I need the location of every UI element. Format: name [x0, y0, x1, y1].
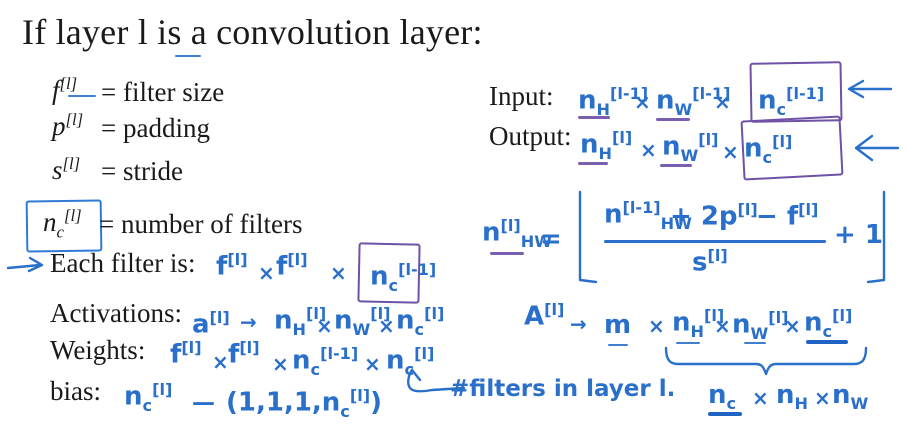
- weights-times-1: ×: [272, 354, 289, 374]
- filter-size-symbol: f[l]: [52, 76, 77, 104]
- each-filter-f1-sup: [l]: [227, 250, 247, 269]
- activations-term-1-base: n: [334, 306, 353, 336]
- formula-denom-base: s: [692, 248, 707, 278]
- floor-left-bracket-icon: [572, 192, 598, 286]
- input-term-1-underline: [656, 118, 690, 121]
- padding-base: p: [52, 111, 66, 141]
- batch-term-0-sub: H: [691, 322, 704, 341]
- input-times-1: ×: [714, 92, 731, 112]
- output-term-2: nc[l]: [744, 134, 792, 166]
- input-term-0-underline: [578, 116, 610, 119]
- weights-f1: f[l]: [170, 340, 202, 368]
- filter-size-equals: =: [101, 79, 116, 106]
- each-filter-nc-sub: c: [389, 276, 399, 295]
- bias-tuple-open: (1,1,1,n: [226, 388, 340, 418]
- formula-lhs-base: n: [482, 218, 501, 248]
- formula-denom-sup: [l]: [707, 246, 727, 265]
- formula-denominator: s[l]: [692, 248, 728, 276]
- weights-f1-sup: [l]: [181, 338, 201, 357]
- each-filter-nc: nc[l-1]: [370, 262, 436, 294]
- weights-ncprev: nc[l-1]: [292, 346, 358, 378]
- activations-term-2-base: n: [396, 306, 415, 336]
- brace-label-term-2: nW: [832, 382, 868, 412]
- brace-term-0-base: n: [708, 380, 727, 410]
- bias-lhs-base: n: [124, 382, 143, 412]
- padding-text: padding: [123, 115, 210, 142]
- input-term-0-base: n: [578, 86, 597, 116]
- num-filters-subscript: c: [57, 222, 64, 241]
- output-term-2-sub: c: [763, 148, 773, 167]
- brace-times-1: ×: [814, 388, 831, 408]
- batch-term-2-base: n: [804, 308, 823, 338]
- input-times-0: ×: [634, 92, 651, 112]
- num-filters-text: number of filters: [121, 211, 302, 238]
- weights-times-2: ×: [364, 354, 381, 374]
- output-times-0: ×: [640, 140, 657, 160]
- activations-a: a[l]: [192, 310, 230, 338]
- batch-term-0-base: n: [672, 308, 691, 338]
- output-term-2-base: n: [744, 134, 763, 164]
- formula-num-minus-text: − f: [756, 202, 798, 232]
- activations-term-0-sub: H: [293, 320, 306, 339]
- output-term-0-sub: H: [599, 144, 612, 163]
- activations-a-sup: [l]: [210, 308, 230, 327]
- weights-nc-sup: [l]: [414, 344, 434, 363]
- batch-term-1-base: n: [732, 310, 751, 340]
- batch-activations-A: A[l]: [524, 302, 564, 330]
- formula-lhs-sup: [l]: [501, 216, 521, 235]
- padding-superscript: [l]: [66, 110, 84, 129]
- brace-label-term-0: nc: [708, 382, 736, 412]
- num-filters-base: n: [43, 207, 57, 237]
- each-filter-f1: f[l]: [216, 252, 248, 280]
- batch-term-2-underline: [806, 340, 848, 344]
- batch-A-base: A: [524, 302, 544, 332]
- brace-term-0-sub: c: [727, 394, 737, 413]
- bias-label: bias:: [50, 378, 101, 405]
- weights-f2: f[l]: [228, 340, 260, 368]
- weights-f1-base: f: [170, 340, 181, 370]
- each-filter-f1-base: f: [216, 252, 227, 282]
- output-term-0: nH[l]: [580, 130, 632, 162]
- weights-f2-sup: [l]: [239, 338, 259, 357]
- batch-underbrace-icon: [664, 346, 868, 376]
- padding-equals: =: [101, 115, 116, 142]
- bias-tuple: (1,1,1,nc[l]): [226, 388, 382, 420]
- num-filters-symbol: nc[l]: [43, 208, 82, 241]
- stride-text: stride: [123, 158, 183, 185]
- batch-term-1-underline: [744, 342, 766, 344]
- filters-annotation: #filters in layer l.: [450, 378, 675, 401]
- output-pointer-arrow-icon: [852, 134, 900, 164]
- batch-times-0: ×: [648, 316, 665, 336]
- each-filter-f2: f[l]: [276, 252, 308, 280]
- batch-term-2-sup: [l]: [832, 306, 852, 325]
- batch-A-sup: [l]: [544, 300, 564, 319]
- each-filter-nc-sup: [l-1]: [398, 260, 436, 279]
- activations-term-2-sup: [l]: [424, 304, 444, 323]
- brace-term-2-sub: W: [851, 394, 869, 413]
- formula-lhs-underline: [490, 252, 524, 255]
- title-l-underline: [175, 55, 201, 57]
- brace-term-1-base: n: [776, 380, 795, 410]
- formula-num-plus-text: + 2p: [670, 202, 738, 232]
- input-term-2-sup: [l-1]: [786, 84, 824, 103]
- input-pointer-arrow-icon: [845, 78, 893, 102]
- input-label: Input:: [489, 83, 554, 110]
- output-term-1-underline: [660, 164, 692, 167]
- each-filter-times1: ×: [258, 263, 275, 283]
- input-term-1-base: n: [656, 86, 675, 116]
- filter-size-base: f: [52, 75, 60, 105]
- output-term-1-base: n: [662, 132, 681, 162]
- each-filter-arrow-icon: [6, 255, 50, 277]
- weights-ncprev-base: n: [292, 346, 311, 376]
- bias-tuple-sup: [l]: [350, 386, 370, 405]
- filter-size-text: filter size: [123, 79, 224, 106]
- padding-symbol: p[l]: [52, 112, 83, 140]
- output-label: Output:: [489, 123, 572, 150]
- weights-times-0: ×: [212, 352, 229, 372]
- weights-ncprev-sub: c: [311, 360, 321, 379]
- bias-lhs: nc[l]: [124, 382, 172, 414]
- each-filter-times2: ×: [330, 263, 347, 283]
- output-term-1: nW[l]: [662, 132, 719, 164]
- activations-arrow: →: [240, 312, 257, 332]
- input-term-2-sub: c: [777, 100, 787, 119]
- formula-num-plus2p: + 2p[l]: [670, 202, 758, 230]
- activations-term-2: nc[l]: [396, 306, 444, 338]
- filter-size-superscript: [l]: [60, 74, 78, 93]
- formula-num-minusf: − f[l]: [756, 202, 818, 230]
- stride-base: s: [52, 155, 63, 185]
- output-term-0-sup: [l]: [612, 128, 632, 147]
- weights-ncprev-sup: [l-1]: [320, 344, 358, 363]
- batch-term-1-sub: W: [751, 324, 769, 343]
- batch-m: m: [604, 312, 631, 338]
- activations-times-0: ×: [316, 316, 333, 336]
- output-term-1-sub: W: [681, 146, 699, 165]
- weights-label: Weights:: [50, 337, 145, 364]
- bias-lhs-sup: [l]: [152, 380, 172, 399]
- batch-term-2-sub: c: [823, 322, 833, 341]
- each-filter-label: Each filter is:: [50, 250, 195, 277]
- brace-term-0-underline: [708, 412, 742, 416]
- bias-tuple-close: ): [370, 388, 382, 418]
- output-term-0-base: n: [580, 130, 599, 160]
- formula-num-sup: [l-1]: [623, 198, 661, 217]
- bias-lhs-sub: c: [143, 396, 153, 415]
- input-term-2: nc[l-1]: [758, 86, 824, 118]
- activations-label: Activations:: [50, 300, 182, 327]
- stride-symbol: s[l]: [52, 156, 80, 184]
- weights-f2-base: f: [228, 340, 239, 370]
- brace-term-1-sub: H: [795, 394, 808, 413]
- input-term-2-base: n: [758, 86, 777, 116]
- page-title: If layer l is a convolution layer:: [22, 14, 483, 50]
- brace-term-2-base: n: [832, 380, 851, 410]
- output-times-1: ×: [722, 142, 739, 162]
- formula-equals: =: [540, 226, 562, 252]
- filter-size-underline: [68, 95, 96, 97]
- formula-num-base: n: [604, 200, 623, 230]
- output-term-0-underline: [578, 162, 608, 165]
- each-filter-f2-base: f: [276, 252, 287, 282]
- activations-times-1: ×: [378, 316, 395, 336]
- batch-times-2: ×: [784, 316, 801, 336]
- batch-times-1: ×: [714, 316, 731, 336]
- batch-arrow: →: [570, 314, 587, 334]
- brace-times-0: ×: [752, 388, 769, 408]
- batch-m-underline: [608, 344, 628, 346]
- each-filter-f2-sup: [l]: [287, 250, 307, 269]
- stride-equals: =: [101, 158, 116, 185]
- fraction-bar: [604, 240, 826, 243]
- num-filters-superscript: [l]: [64, 206, 82, 225]
- stride-superscript: [l]: [63, 154, 81, 173]
- brace-label-term-1: nH: [776, 382, 808, 412]
- activations-term-2-sub: c: [415, 320, 425, 339]
- batch-term-0-underline: [676, 342, 700, 344]
- each-filter-nc-base: n: [370, 262, 389, 292]
- activations-a-base: a: [192, 310, 210, 340]
- bias-dash: —: [192, 392, 215, 415]
- bias-tuple-sub: c: [340, 402, 350, 421]
- batch-term-2: nc[l]: [804, 308, 852, 340]
- num-filters-equals: =: [99, 211, 114, 238]
- formula-num-f-sup: [l]: [798, 200, 818, 219]
- formula-plus-one: + 1: [834, 222, 883, 248]
- slide-canvas: If layer l is a convolution layer: f[l] …: [0, 0, 907, 435]
- formula-num-p-sup: [l]: [738, 200, 758, 219]
- output-term-1-sup: [l]: [698, 130, 718, 149]
- batch-term-1: nW[l]: [732, 310, 789, 342]
- output-term-2-sup: [l]: [772, 132, 792, 151]
- activations-term-0-base: n: [274, 306, 293, 336]
- input-term-1-sub: W: [675, 100, 693, 119]
- activations-term-1-sub: W: [353, 320, 371, 339]
